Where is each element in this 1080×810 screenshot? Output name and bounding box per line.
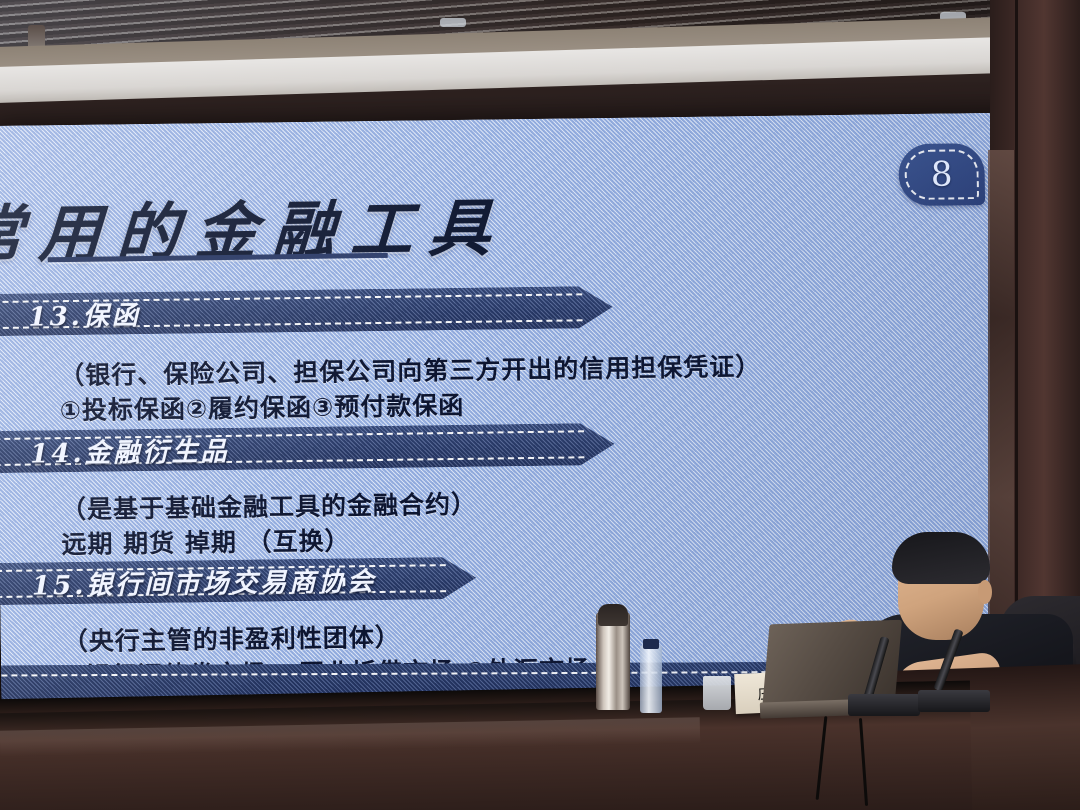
section-banner-label: 13.保函: [28, 295, 141, 333]
page-number-text: 8: [931, 154, 953, 194]
section-body-13: （银行、保险公司、担保公司向第三方开出的信用担保凭证） ①投标保函②履约保函③预…: [59, 350, 762, 428]
body-line: （是基于基础金融工具的金融合约）: [61, 488, 477, 528]
microphone-base: [848, 694, 920, 716]
water-bottle-cap: [643, 639, 659, 649]
thermos-cap: [598, 604, 628, 626]
screenshot-root: 常用的金融工具 8 13.保函 （银行、保险公司、担保公司向第三方开出的信用担保…: [0, 0, 1080, 810]
paper-cup: [703, 676, 731, 710]
thermos-flask: [596, 612, 630, 710]
ceiling-light-strip: [440, 18, 466, 27]
speaker-ear: [978, 580, 992, 604]
section-banner-label: 14.金融衍生品: [30, 430, 230, 470]
section-banner-label: 15.银行间市场交易商协会: [32, 561, 377, 603]
section-body-14: （是基于基础金融工具的金融合约） 远期 期货 掉期 （互换）: [61, 488, 478, 562]
page-number-badge: 8: [898, 143, 985, 206]
water-bottle: [640, 645, 662, 713]
section-banner-14: 14.金融衍生品: [0, 423, 614, 473]
body-line: 远期 期货 掉期 （互换）: [61, 522, 477, 562]
section-banner-13: 13.保函: [0, 286, 613, 336]
section-banner-15: 15.银行间市场交易商协会: [0, 557, 476, 606]
microphone-base: [918, 690, 990, 712]
speaker-hair: [892, 532, 990, 584]
